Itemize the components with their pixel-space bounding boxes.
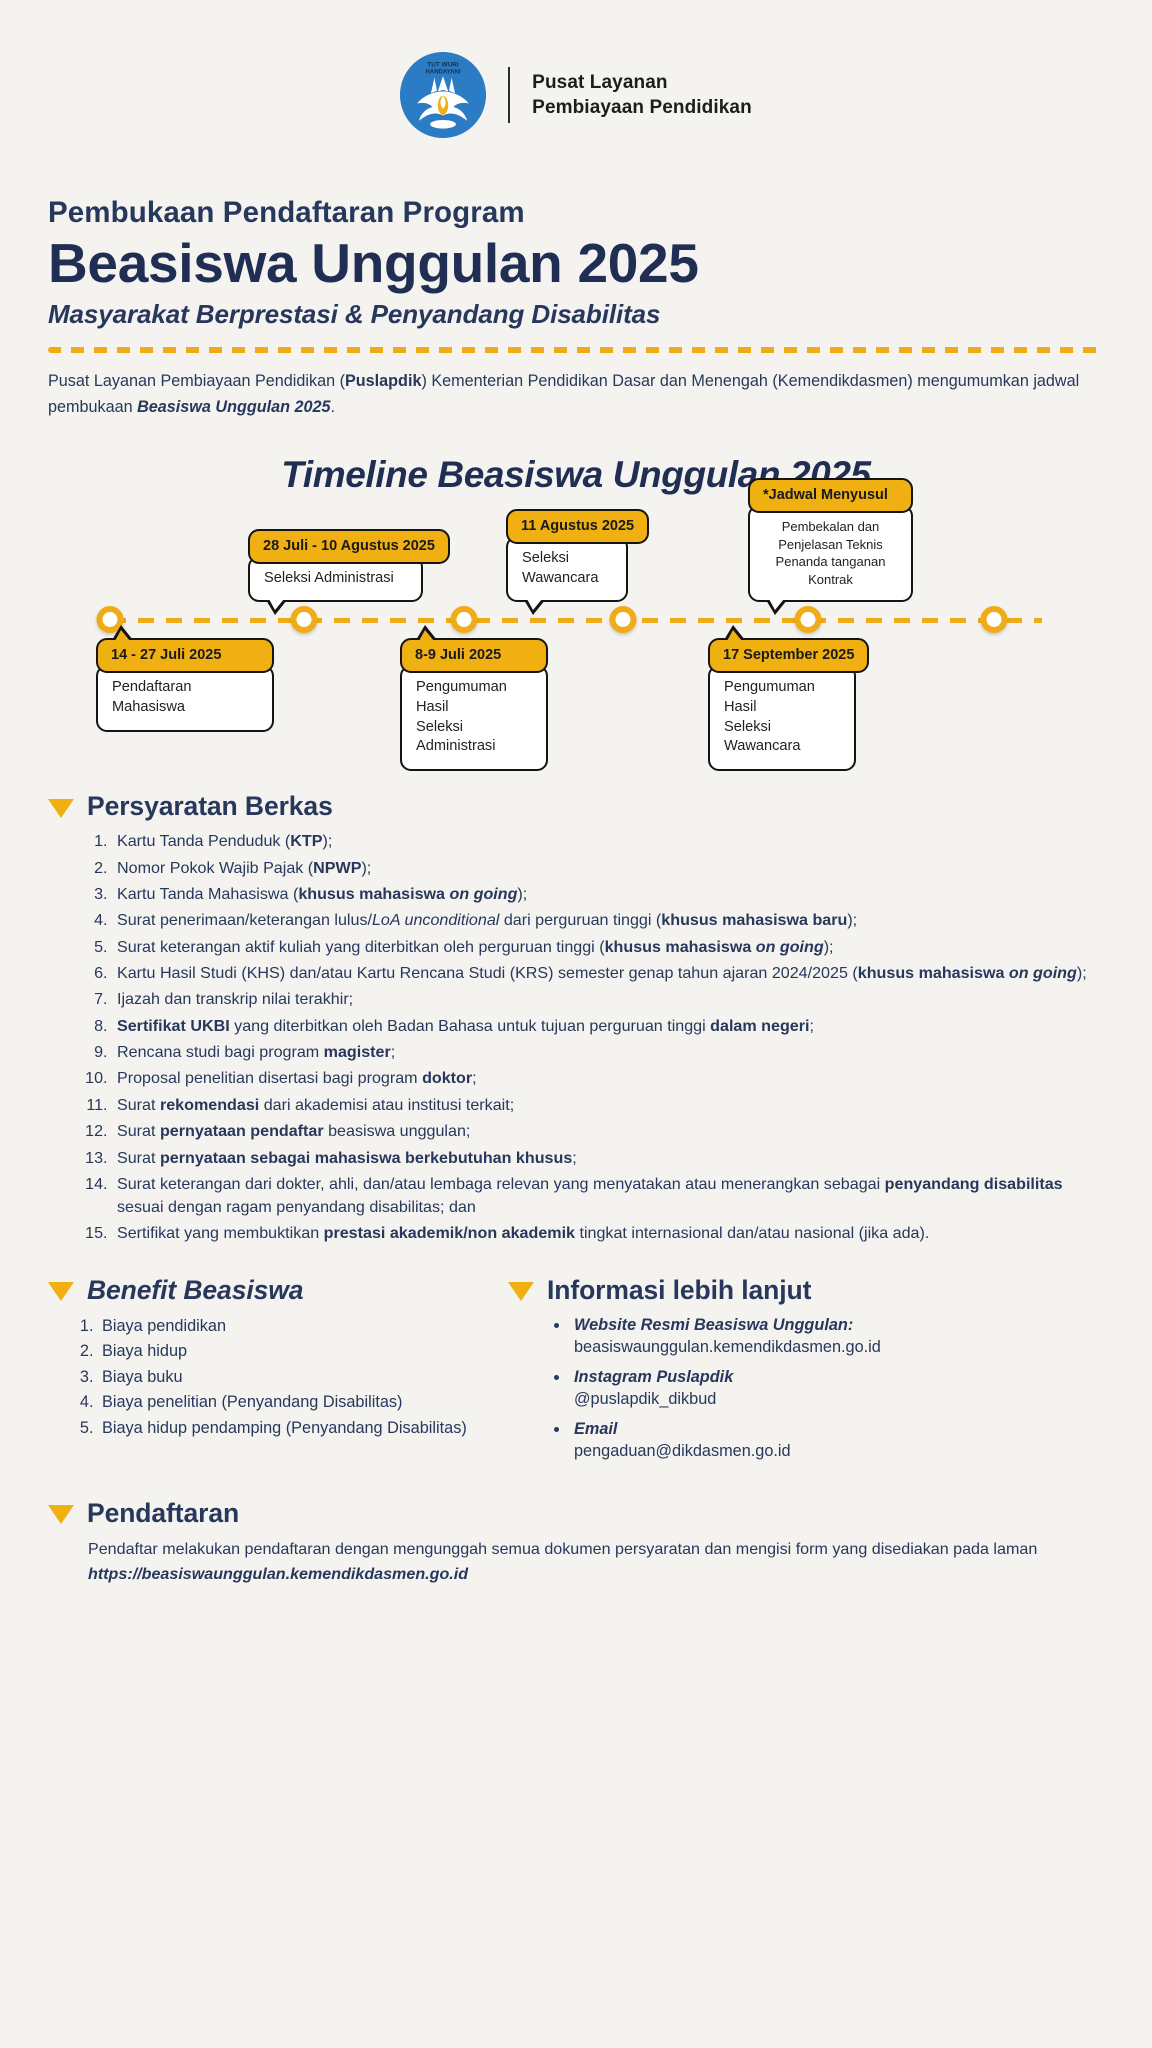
page-title: Beasiswa Unggulan 2025 — [48, 235, 1104, 292]
list-item: Surat pernyataan pendaftar beasiswa ungg… — [112, 1120, 1104, 1143]
list-item: Surat rekomendasi dari akademisi atau in… — [112, 1094, 1104, 1117]
hero-eyebrow: Pembukaan Pendaftaran Program — [48, 196, 1104, 230]
intro-puslapdik: Puslapdik — [345, 372, 421, 390]
pendaftaran-heading-row: Pendaftaran — [48, 1498, 1104, 1529]
svg-text:HANDAYANI: HANDAYANI — [426, 70, 461, 76]
tut-wuri-handayani-logo-icon: TUT WURI HANDAYANI — [400, 52, 486, 138]
timeline-date-badge: 17 September 2025 — [708, 638, 869, 673]
pendaftaran-body: Pendaftar melakukan pendaftaran dengan m… — [88, 1537, 1088, 1587]
list-item: Surat keterangan aktif kuliah yang diter… — [112, 936, 1104, 959]
organization-name: Pusat Layanan Pembiayaan Pendidikan — [532, 70, 752, 120]
list-item: Proposal penelitian disertasi bagi progr… — [112, 1067, 1104, 1090]
triangle-bullet-icon — [48, 1505, 74, 1524]
informasi-heading-row: Informasi lebih lanjut — [508, 1275, 1104, 1306]
persyaratan-heading: Persyaratan Berkas — [87, 791, 333, 822]
info-value[interactable]: @puslapdik_dikbud — [574, 1388, 1104, 1410]
triangle-bullet-icon — [48, 1282, 74, 1301]
timeline-card-3: 17 September 2025Pengumuman HasilSeleksi… — [708, 638, 869, 771]
intro-program-name: Beasiswa Unggulan 2025 — [137, 398, 330, 416]
pendaftaran-heading: Pendaftaran — [87, 1498, 239, 1529]
list-item: Kartu Tanda Penduduk (KTP); — [112, 830, 1104, 853]
list-item: Kartu Tanda Mahasiswa (khusus mahasiswa … — [112, 883, 1104, 906]
info-label: Email — [574, 1418, 1104, 1440]
triangle-bullet-icon — [508, 1282, 534, 1301]
list-item: Biaya pendidikan — [98, 1314, 478, 1338]
page-subtitle: Masyarakat Berprestasi & Penyandang Disa… — [48, 299, 1104, 330]
timeline-card-1: 14 - 27 Juli 2025Pendaftaran Mahasiswa — [96, 638, 274, 731]
timeline-card-4: 28 Juli - 10 Agustus 2025Seleksi Adminis… — [248, 529, 450, 603]
list-item: Emailpengaduan@dikdasmen.go.id — [570, 1418, 1104, 1463]
timeline-dashed-line — [110, 618, 1042, 623]
list-item: Website Resmi Beasiswa Unggulan:beasiswa… — [570, 1314, 1104, 1359]
list-item: Surat penerimaan/keterangan lulus/LoA un… — [112, 909, 1104, 932]
timeline-date-badge: *Jadwal Menyusul — [748, 478, 913, 513]
info-label: Website Resmi Beasiswa Unggulan: — [574, 1314, 1104, 1336]
timeline-title: Timeline Beasiswa Unggulan 2025 — [48, 454, 1104, 496]
timeline-node-2 — [291, 606, 318, 633]
organization-name-line1: Pusat Layanan — [532, 70, 752, 95]
list-item: Rencana studi bagi program magister; — [112, 1041, 1104, 1064]
section-informasi: Informasi lebih lanjut Website Resmi Bea… — [498, 1275, 1104, 1470]
timeline-node-5 — [795, 606, 822, 633]
brand-divider — [508, 67, 510, 123]
pendaftaran-text: Pendaftar melakukan pendaftaran dengan m… — [88, 1540, 1037, 1558]
info-value[interactable]: pengaduan@dikdasmen.go.id — [574, 1440, 1104, 1462]
list-item: Biaya buku — [98, 1365, 478, 1389]
list-item: Biaya penelitian (Penyandang Disabilitas… — [98, 1390, 478, 1414]
timeline-date-badge: 14 - 27 Juli 2025 — [96, 638, 274, 673]
intro-text-1: Pusat Layanan Pembiayaan Pendidikan ( — [48, 372, 345, 390]
timeline-card-body: Pendaftaran Mahasiswa — [96, 665, 274, 731]
informasi-list: Website Resmi Beasiswa Unggulan:beasiswa… — [570, 1314, 1104, 1463]
timeline-node-6 — [981, 606, 1008, 633]
timeline-node-4 — [609, 606, 636, 633]
section-pendaftaran: Pendaftaran Pendaftar melakukan pendafta… — [48, 1498, 1104, 1587]
list-item: Surat pernyataan sebagai mahasiswa berke… — [112, 1147, 1104, 1170]
brand-header: TUT WURI HANDAYANI Pusat Layanan Pembiay… — [0, 0, 1152, 138]
list-item: Sertifikat yang membuktikan prestasi aka… — [112, 1222, 1104, 1245]
timeline-card-6: *Jadwal MenyusulPembekalan dan Penjelasa… — [748, 478, 913, 602]
informasi-heading: Informasi lebih lanjut — [547, 1275, 811, 1306]
timeline-card-2: 8-9 Juli 2025Pengumuman HasilSeleksi Adm… — [400, 638, 548, 771]
intro-text-3: . — [331, 398, 336, 416]
pendaftaran-url[interactable]: https://beasiswaunggulan.kemendikdasmen.… — [88, 1565, 468, 1583]
list-item: Sertifikat UKBI yang diterbitkan oleh Ba… — [112, 1015, 1104, 1038]
timeline-card-body: Pengumuman HasilSeleksi Administrasi — [400, 665, 548, 771]
dashed-divider — [48, 347, 1104, 353]
list-item: Instagram Puslapdik@puslapdik_dikbud — [570, 1366, 1104, 1411]
two-column-section: Benefit Beasiswa Biaya pendidikanBiaya h… — [48, 1275, 1104, 1470]
persyaratan-heading-row: Persyaratan Berkas — [48, 791, 1104, 822]
benefit-heading-row: Benefit Beasiswa — [48, 1275, 478, 1306]
benefit-heading: Benefit Beasiswa — [87, 1275, 303, 1306]
svg-text:TUT WURI: TUT WURI — [427, 62, 459, 69]
timeline-card-body: Pembekalan dan Penjelasan TeknisPenanda … — [748, 505, 913, 602]
timeline-node-3 — [450, 606, 477, 633]
list-item: Kartu Hasil Studi (KHS) dan/atau Kartu R… — [112, 962, 1104, 985]
list-item: Nomor Pokok Wajib Pajak (NPWP); — [112, 857, 1104, 880]
timeline-date-badge: 8-9 Juli 2025 — [400, 638, 548, 673]
timeline-date-badge: 28 Juli - 10 Agustus 2025 — [248, 529, 450, 564]
info-label: Instagram Puslapdik — [574, 1366, 1104, 1388]
list-item: Ijazah dan transkrip nilai terakhir; — [112, 988, 1104, 1011]
organization-name-line2: Pembiayaan Pendidikan — [532, 95, 752, 120]
list-item: Biaya hidup — [98, 1339, 478, 1363]
section-persyaratan: Persyaratan Berkas Kartu Tanda Penduduk … — [48, 791, 1104, 1245]
benefit-list: Biaya pendidikanBiaya hidupBiaya bukuBia… — [98, 1314, 478, 1440]
persyaratan-list: Kartu Tanda Penduduk (KTP);Nomor Pokok W… — [112, 830, 1104, 1245]
intro-paragraph: Pusat Layanan Pembiayaan Pendidikan (Pus… — [48, 369, 1104, 420]
timeline: 14 - 27 Juli 2025Pendaftaran Mahasiswa8-… — [48, 510, 1104, 765]
timeline-card-body: Pengumuman HasilSeleksi Wawancara — [708, 665, 856, 771]
list-item: Biaya hidup pendamping (Penyandang Disab… — [98, 1416, 478, 1440]
triangle-bullet-icon — [48, 799, 74, 818]
timeline-date-badge: 11 Agustus 2025 — [506, 509, 649, 544]
section-benefit: Benefit Beasiswa Biaya pendidikanBiaya h… — [48, 1275, 478, 1470]
timeline-card-body: Seleksi Wawancara — [506, 536, 628, 602]
timeline-card-5: 11 Agustus 2025Seleksi Wawancara — [506, 509, 649, 602]
info-value[interactable]: beasiswaunggulan.kemendikdasmen.go.id — [574, 1336, 1104, 1358]
list-item: Surat keterangan dari dokter, ahli, dan/… — [112, 1173, 1104, 1219]
